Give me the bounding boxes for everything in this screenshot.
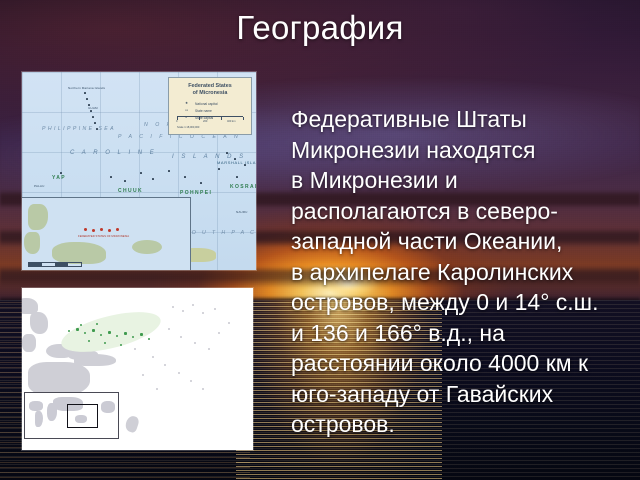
inset-landmass xyxy=(132,240,162,254)
map-label-nauru: NAURU xyxy=(236,210,248,214)
inset-highlight-dot xyxy=(108,229,111,232)
legend-title-line1: Federated States xyxy=(169,83,251,90)
map-island-dot xyxy=(244,164,246,166)
inset-landmass-namerica xyxy=(29,401,43,411)
map-inset: FEDERATED STATES OF MICRONESIA xyxy=(22,197,191,270)
map-island-dot xyxy=(234,158,236,160)
legend-box-icon: ▭ xyxy=(185,108,188,112)
inset-region-box xyxy=(67,404,98,428)
locator-island-dot xyxy=(214,308,216,310)
map-island-dot xyxy=(218,168,220,170)
locator-island-dot xyxy=(100,334,102,336)
scale-tick xyxy=(199,117,200,120)
inset-landmass-americas-east xyxy=(101,401,115,413)
body-line: юго-западу от Гавайских xyxy=(291,379,621,410)
inset-highlight-dot xyxy=(100,228,103,231)
legend-star-icon: ★ xyxy=(185,101,188,105)
locator-island-dot xyxy=(88,340,90,342)
image-fsm-political-map[interactable]: PHILIPPINE SEA N O R T H P A C I F I C O… xyxy=(22,72,256,270)
locator-island-dot xyxy=(218,332,220,334)
map-label-south-pacific-ocean: S O U T H P A C I F I C O C E A N xyxy=(182,230,256,236)
locator-landmass-australia xyxy=(28,362,90,396)
inset-highlight-dot xyxy=(116,228,119,231)
scale-tick xyxy=(221,117,222,120)
map-island-dot xyxy=(152,178,154,180)
locator-island-dot xyxy=(228,322,230,324)
body-line: островов. xyxy=(291,409,621,440)
body-line: расстоянии около 4000 км к xyxy=(291,348,621,379)
locator-island-dot xyxy=(142,374,144,376)
map-label-state-kosrae: KOSRAE xyxy=(230,184,256,190)
map-label-state-yap: YAP xyxy=(52,175,66,181)
map-island-dot xyxy=(184,176,186,178)
locator-island-dot xyxy=(148,338,150,340)
map-island-dot xyxy=(96,128,98,130)
inset-landmass-australia xyxy=(52,242,106,264)
body-line: располагаются в северо- xyxy=(291,196,621,227)
map-label-state-pohnpei: POHNPEI xyxy=(180,190,212,196)
map-label-palau: PALAU xyxy=(34,184,44,188)
body-line: Микронезии находятся xyxy=(291,135,621,166)
legend-label-national-capital: National capital xyxy=(195,102,218,106)
map-island-dot xyxy=(84,92,86,94)
map-island-dot xyxy=(236,176,238,178)
locator-island-dot xyxy=(180,336,182,338)
image-micronesia-locator-map[interactable] xyxy=(22,288,253,450)
map-label-marshall-islands: MARSHALL ISLANDS xyxy=(217,160,256,165)
locator-island-dot xyxy=(116,335,118,337)
legend-title-line2: of Micronesia xyxy=(169,90,251,97)
map-island-dot xyxy=(200,182,202,184)
locator-island-dot xyxy=(134,348,136,350)
locator-island-dot xyxy=(80,324,82,326)
map-island-dot xyxy=(60,172,62,174)
map-island-dot xyxy=(88,104,90,106)
map-label-caroline: C A R O L I N E xyxy=(70,150,157,156)
locator-island-dot xyxy=(190,380,192,382)
locator-island-dot xyxy=(168,328,170,330)
scale-label-400km: 400 km xyxy=(227,120,236,123)
body-line: и 136 и 166° в.д., на xyxy=(291,318,621,349)
map-label-philippine-sea: PHILIPPINE SEA xyxy=(42,126,116,132)
locator-island-dot xyxy=(120,344,122,346)
locator-island-dot xyxy=(194,342,196,344)
scale-label-0: 0 xyxy=(176,120,177,123)
body-line: в архипелаге Каролинских xyxy=(291,257,621,288)
body-line: в Микронезии и xyxy=(291,165,621,196)
body-line: западной части Океании, xyxy=(291,226,621,257)
map-island-dot xyxy=(168,170,170,172)
map-island-dot xyxy=(110,176,112,178)
map-island-dot xyxy=(124,180,126,182)
locator-island-dot xyxy=(152,356,154,358)
legend-label-state-name: State name xyxy=(195,109,212,113)
locator-island-dot xyxy=(208,348,210,350)
map-legend: Federated States of Micronesia ★ Nationa… xyxy=(168,77,252,135)
inset-landmass xyxy=(28,204,48,230)
map-island-dot xyxy=(86,98,88,100)
locator-island-dot xyxy=(84,332,86,334)
body-line: островов, между 0 и 14° с.ш. xyxy=(291,287,621,318)
locator-island-dot xyxy=(68,330,70,332)
map-label-state-chuuk: CHUUK xyxy=(118,188,143,194)
scale-label-200: 200 xyxy=(203,120,207,123)
locator-island-dot xyxy=(192,304,194,306)
locator-island-dot xyxy=(172,306,174,308)
locator-landmass xyxy=(30,312,48,334)
locator-island-dot xyxy=(96,323,98,325)
presentation-slide: География Федеративные Штаты Микронезии … xyxy=(0,0,640,480)
map-island-dot xyxy=(92,116,94,118)
locator-island-dot xyxy=(92,329,95,332)
locator-island-dot xyxy=(202,388,204,390)
slide-body-text: Федеративные Штаты Микронезии находятся … xyxy=(291,104,621,440)
locator-island-dot xyxy=(164,364,166,366)
locator-island-dot xyxy=(178,372,180,374)
map-island-dot xyxy=(90,110,92,112)
inset-caption: FEDERATED STATES OF MICRONESIA xyxy=(78,234,129,238)
locator-island-dot xyxy=(104,342,106,344)
locator-island-dot xyxy=(108,331,111,334)
locator-landmass xyxy=(22,334,36,352)
scale-tick xyxy=(243,117,244,120)
body-line: Федеративные Штаты xyxy=(291,104,621,135)
map-island-dot xyxy=(94,122,96,124)
locator-island-dot xyxy=(140,333,143,336)
inset-highlight-dot xyxy=(84,228,87,231)
inset-landmass xyxy=(24,232,40,254)
locator-island-dot xyxy=(182,310,184,312)
locator-landmass-nz xyxy=(124,415,140,434)
map-label-northern-mariana-islands: Northern Mariana Islands xyxy=(68,86,105,90)
inset-landmass-samerica xyxy=(35,411,43,427)
locator-highlight-region xyxy=(58,304,165,360)
locator-island-dot xyxy=(76,328,79,331)
locator-island-dot xyxy=(156,388,158,390)
map-scale-bar xyxy=(28,262,82,267)
scale-note: Scale 1:18,000,000 xyxy=(177,126,199,129)
locator-island-dot xyxy=(124,332,127,335)
locator-island-dot xyxy=(132,336,134,338)
inset-highlight-dot xyxy=(92,229,95,232)
locator-island-dot xyxy=(202,312,204,314)
map-island-dot xyxy=(226,152,228,154)
slide-title: География xyxy=(0,8,640,48)
locator-world-inset xyxy=(24,392,119,439)
map-island-dot xyxy=(140,172,142,174)
